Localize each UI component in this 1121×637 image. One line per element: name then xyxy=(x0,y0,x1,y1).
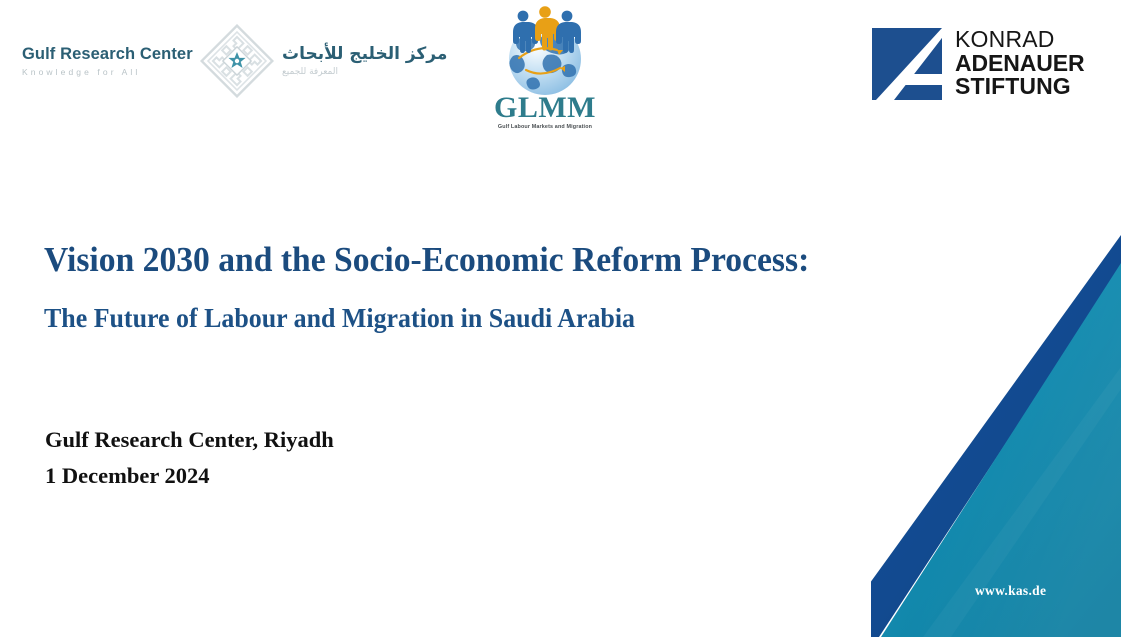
glmm-tagline: Gulf Labour Markets and Migration xyxy=(486,124,604,130)
gulf-research-center-logo: Gulf Research Center Knowledge for All xyxy=(22,22,422,100)
glmm-logo: GLMM Gulf Labour Markets and Migration xyxy=(486,2,604,128)
grc-english-name: Gulf Research Center xyxy=(22,45,190,63)
slide-subtitle: The Future of Labour and Migration in Sa… xyxy=(44,303,908,334)
kas-line-adenauer: ADENAUER xyxy=(955,52,1085,76)
grc-arabic-name: مركز الخليج للأبحاث xyxy=(282,45,447,65)
venue-date: 1 December 2024 xyxy=(45,458,334,494)
grc-arabic-tagline: المعرفة للجميع xyxy=(282,67,338,77)
grc-english-tagline: Knowledge for All xyxy=(22,67,190,77)
logo-bar: Gulf Research Center Knowledge for All xyxy=(0,0,1121,135)
presentation-slide: Gulf Research Center Knowledge for All xyxy=(0,0,1121,637)
grc-english-text: Gulf Research Center Knowledge for All xyxy=(22,45,190,77)
glmm-wordmark: GLMM xyxy=(486,94,604,122)
title-block: Vision 2030 and the Socio-Economic Refor… xyxy=(44,240,944,334)
kas-website-url: www.kas.de xyxy=(975,583,1046,599)
grc-diamond-ornament-icon xyxy=(200,24,274,98)
grc-arabic-text: مركز الخليج للأبحاث المعرفة للجميع xyxy=(282,45,434,77)
konrad-adenauer-stiftung-logo: KONRAD ADENAUER STIFTUNG xyxy=(872,28,1094,100)
glmm-globe-icon xyxy=(486,2,604,98)
kas-wordmark: KONRAD ADENAUER STIFTUNG xyxy=(955,28,1085,99)
slide-title: Vision 2030 and the Socio-Economic Refor… xyxy=(44,240,908,280)
kas-line-konrad: KONRAD xyxy=(955,28,1085,52)
kas-line-stiftung: STIFTUNG xyxy=(955,75,1085,99)
venue-location: Gulf Research Center, Riyadh xyxy=(45,422,334,458)
kas-monogram-icon xyxy=(872,28,942,100)
venue-block: Gulf Research Center, Riyadh 1 December … xyxy=(45,422,334,495)
